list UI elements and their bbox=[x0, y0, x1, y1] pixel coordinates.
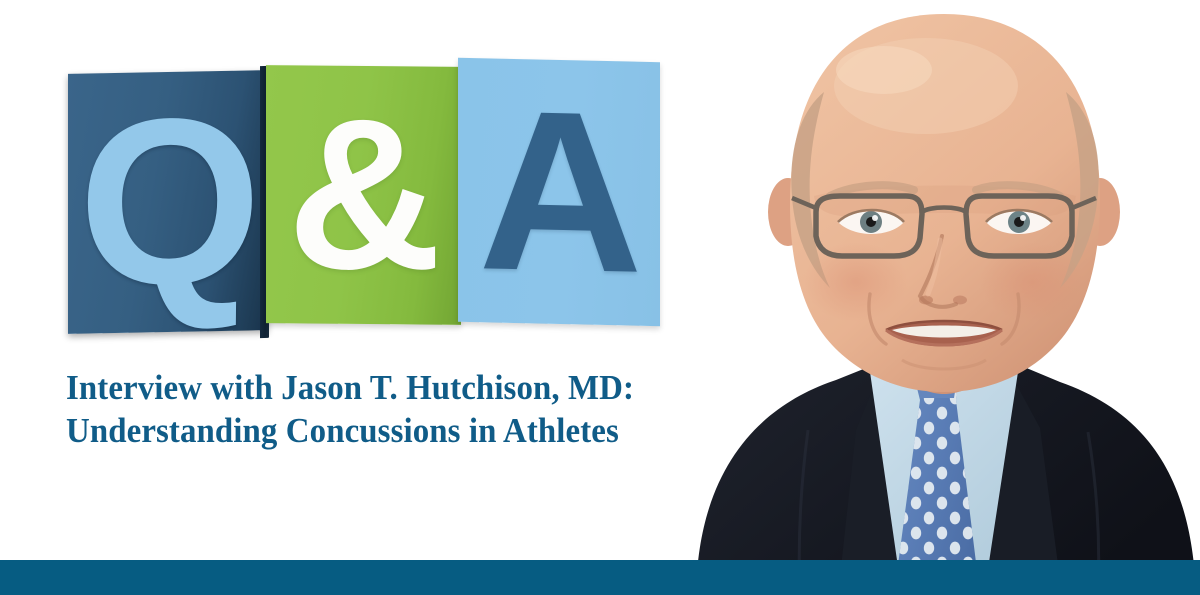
logo-panel-q: Q bbox=[68, 70, 268, 334]
logo-letter-q: Q bbox=[68, 70, 268, 334]
logo-panel-a: A bbox=[458, 58, 660, 326]
logo-letter-a: A bbox=[458, 58, 660, 326]
title-line-1: Interview with Jason T. Hutchison, MD: bbox=[66, 366, 649, 409]
banner-canvas: Q & A Interview with Jason T. Hutchison,… bbox=[0, 0, 1200, 595]
bottom-accent-bar bbox=[0, 560, 1200, 595]
logo-panel-ampersand: & bbox=[266, 65, 461, 325]
logo-letter-ampersand: & bbox=[266, 65, 461, 325]
portrait-head bbox=[790, 14, 1100, 392]
q-and-a-logo: Q & A bbox=[60, 58, 670, 348]
title-line-2: Understanding Concussions in Athletes bbox=[66, 409, 649, 452]
banner-title: Interview with Jason T. Hutchison, MD: U… bbox=[66, 366, 686, 452]
portrait-photo bbox=[688, 0, 1200, 595]
